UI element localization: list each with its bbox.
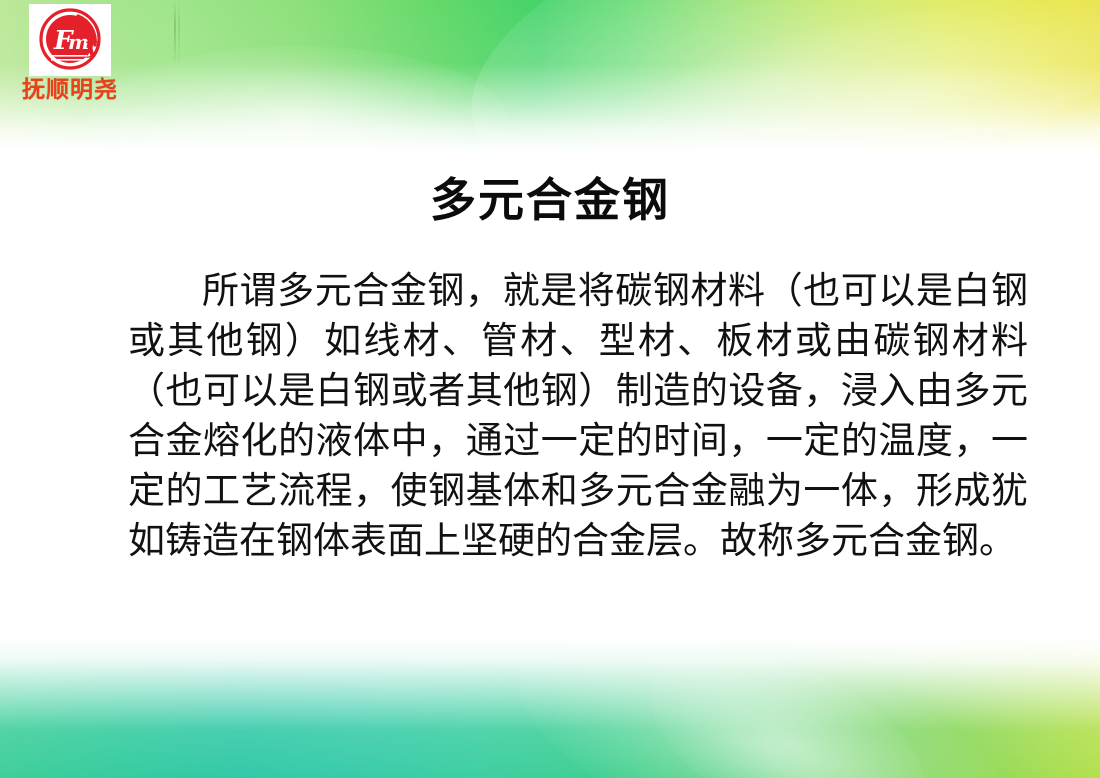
presentation-slide: F m y 抚顺明尧 多元合金钢 所谓多元合金钢，就是将碳钢材料（也可以是白钢或… — [0, 0, 1100, 778]
slide-title: 多元合金钢 — [0, 164, 1100, 230]
slide-content: 多元合金钢 所谓多元合金钢，就是将碳钢材料（也可以是白钢或其他钢）如线材、管材、… — [0, 0, 1100, 778]
body-paragraph: 所谓多元合金钢，就是将碳钢材料（也可以是白钢或其他钢）如线材、管材、型材、板材或… — [128, 266, 1028, 566]
company-branding: F m y 抚顺明尧 — [12, 4, 128, 103]
slide-body-text: 所谓多元合金钢，就是将碳钢材料（也可以是白钢或其他钢）如线材、管材、型材、板材或… — [128, 266, 1028, 566]
fmy-circle-logo-icon: F m y — [29, 4, 111, 76]
company-name-label: 抚顺明尧 — [12, 78, 128, 103]
